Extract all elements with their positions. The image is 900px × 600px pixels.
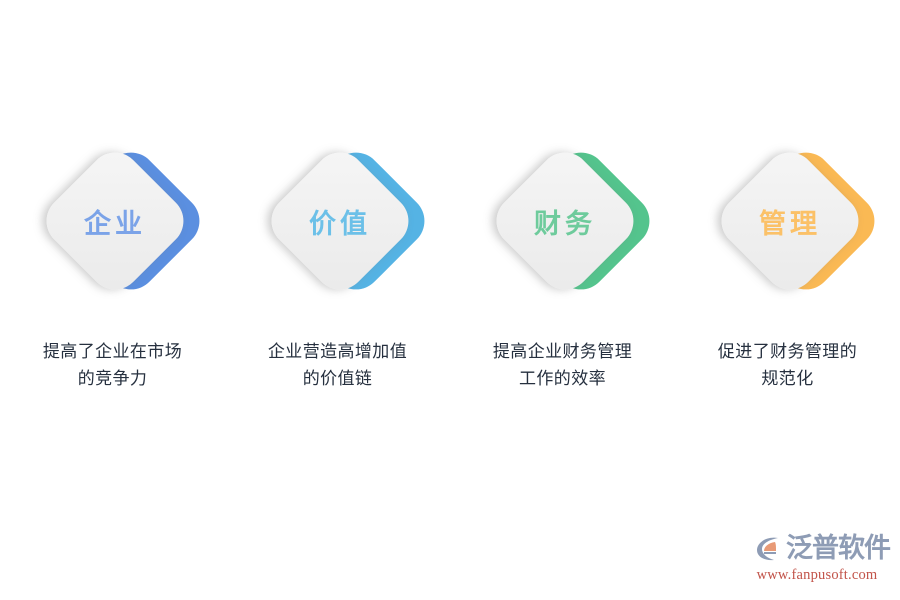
watermark-url: www.fanpusoft.com [752,566,882,584]
diamond-label: 价值 [238,132,438,310]
diamond-label: 管理 [688,132,888,310]
caption-line-1: 提高了企业在市场 [13,338,213,365]
card-caption: 提高了企业在市场 的竞争力 [13,338,213,392]
diamond-graphic: 企业 [13,132,213,310]
diamond-card[interactable]: 管理 促进了财务管理的 规范化 [675,132,900,392]
diamond-card[interactable]: 企业 提高了企业在市场 的竞争力 [0,132,225,392]
caption-line-1: 提高企业财务管理 [463,338,663,365]
diamond-label: 财务 [463,132,663,310]
diamond-label: 企业 [13,132,213,310]
caption-line-2: 规范化 [688,365,888,392]
diamond-cards-row: 企业 提高了企业在市场 的竞争力 价值 企业营造高增加值 的价值链 财务 提高企… [0,132,900,392]
caption-line-2: 工作的效率 [463,365,663,392]
caption-line-2: 的竞争力 [13,365,213,392]
diamond-graphic: 管理 [688,132,888,310]
diamond-card[interactable]: 价值 企业营造高增加值 的价值链 [225,132,450,392]
card-caption: 提高企业财务管理 工作的效率 [463,338,663,392]
watermark-brand: 泛普软件 [786,533,890,563]
watermark-top-row: 泛普软件 [752,530,882,566]
caption-line-1: 企业营造高增加值 [238,338,438,365]
card-caption: 企业营造高增加值 的价值链 [238,338,438,392]
fanpu-logo-icon [752,532,784,564]
caption-line-2: 的价值链 [238,365,438,392]
diamond-graphic: 价值 [238,132,438,310]
diamond-card[interactable]: 财务 提高企业财务管理 工作的效率 [450,132,675,392]
caption-line-1: 促进了财务管理的 [688,338,888,365]
card-caption: 促进了财务管理的 规范化 [688,338,888,392]
watermark: 泛普软件 www.fanpusoft.com [752,530,882,588]
diamond-graphic: 财务 [463,132,663,310]
